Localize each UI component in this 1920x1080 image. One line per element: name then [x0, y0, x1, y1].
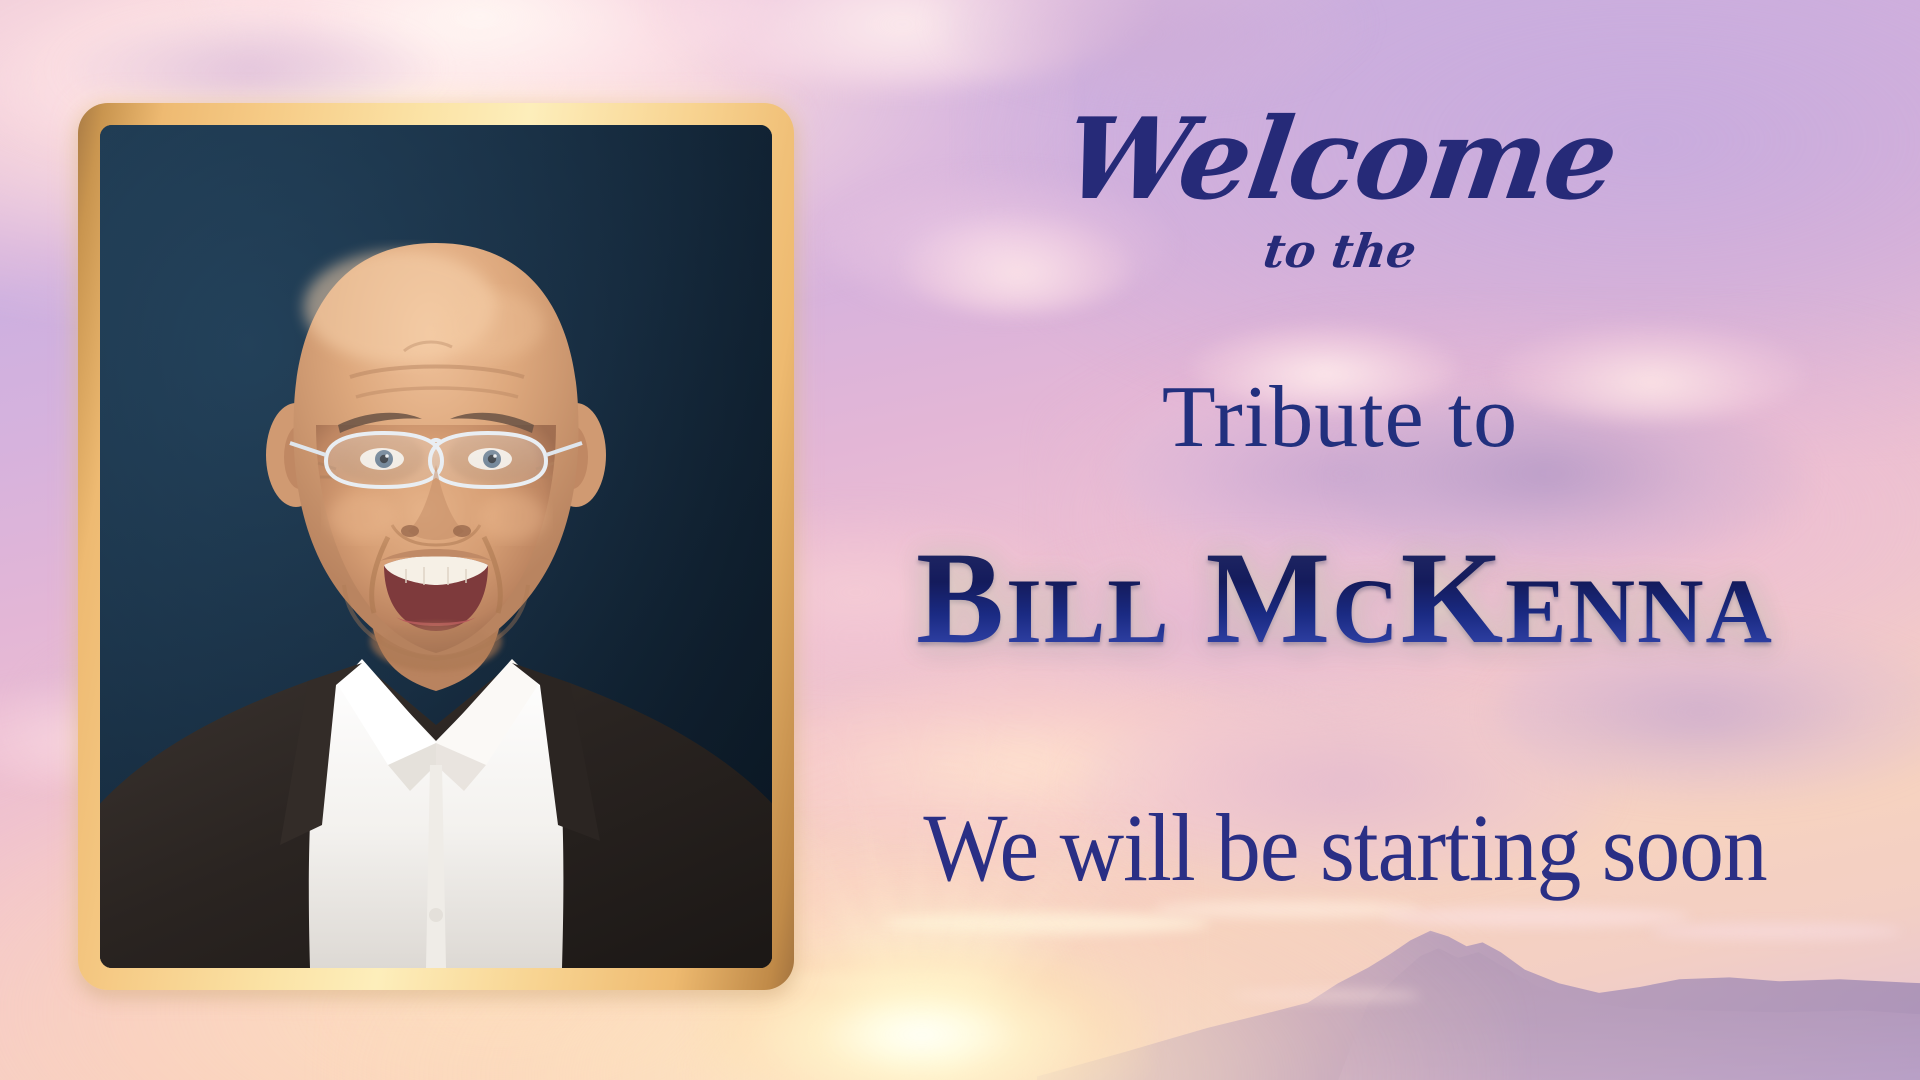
portrait-photo-frame: Portrait — [78, 103, 794, 990]
portrait-photo: Portrait — [100, 125, 772, 968]
sky-glow-mid-right — [1037, 302, 1920, 734]
tribute-welcome-slide: Portrait — [0, 0, 1920, 1080]
horizon-cloud-streak — [1651, 923, 1901, 939]
